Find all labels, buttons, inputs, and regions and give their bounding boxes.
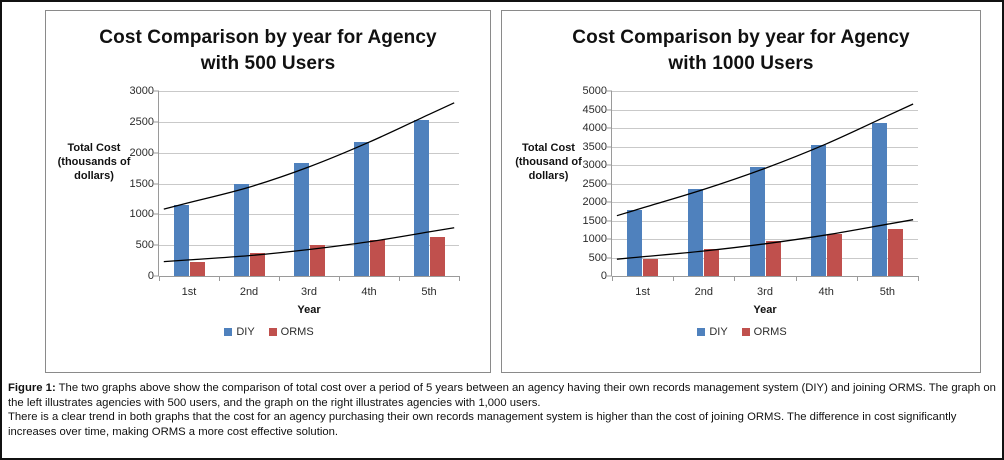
y-axis-title-left-line2: (thousands of — [46, 155, 142, 169]
bar-diy-4th — [811, 145, 826, 276]
y-tick-label: 1500 — [583, 215, 612, 227]
chart-title-right-line1: Cost Comparison by year for Agency — [502, 25, 980, 51]
y-tick-label: 1000 — [583, 233, 612, 245]
chart-title-left: Cost Comparison by year for Agency with … — [46, 11, 490, 77]
charts-row: Cost Comparison by year for Agency with … — [2, 2, 1004, 378]
y-tick-label: 2500 — [130, 116, 159, 128]
bar-orms-1st — [643, 259, 658, 276]
y-tick-label: 1500 — [130, 178, 159, 190]
chart-title-right-line2: with 1000 Users — [502, 51, 980, 77]
bar-diy-4th — [354, 142, 369, 276]
y-tick-label: 4500 — [583, 104, 612, 116]
legend-label: ORMS — [281, 326, 314, 338]
x-tick-mark — [339, 276, 340, 281]
x-tick-mark — [796, 276, 797, 281]
chart-title-right: Cost Comparison by year for Agency with … — [502, 11, 980, 77]
chart-legend-left: DIYORMS — [46, 326, 492, 338]
chart-title-left-line1: Cost Comparison by year for Agency — [46, 25, 490, 51]
y-axis-title-right: Total Cost (thousand of dollars) — [502, 141, 595, 183]
x-tick-mark — [918, 276, 919, 281]
legend-item-orms[interactable]: ORMS — [742, 326, 787, 338]
x-tick-label: 5th — [880, 286, 895, 298]
figure-caption: Figure 1: The two graphs above show the … — [8, 381, 996, 439]
x-tick-label: 2nd — [240, 286, 258, 298]
x-tick-mark — [734, 276, 735, 281]
bar-diy-5th — [872, 123, 887, 276]
chart-title-left-line2: with 500 Users — [46, 51, 490, 77]
bar-diy-2nd — [688, 189, 703, 276]
legend-item-orms[interactable]: ORMS — [269, 326, 314, 338]
bar-diy-3rd — [750, 167, 765, 276]
bar-diy-5th — [414, 120, 429, 276]
bar-orms-4th — [370, 240, 385, 276]
x-tick-mark — [459, 276, 460, 281]
y-tick-label: 5000 — [583, 85, 612, 97]
bar-orms-3rd — [766, 241, 781, 276]
x-tick-label: 4th — [819, 286, 834, 298]
y-axis-title-right-line1: Total Cost — [502, 141, 595, 155]
y-tick-label: 500 — [136, 239, 159, 251]
y-gridline — [612, 276, 918, 277]
legend-item-diy[interactable]: DIY — [224, 326, 254, 338]
chart-panel-left: Cost Comparison by year for Agency with … — [45, 10, 491, 373]
x-tick-mark — [279, 276, 280, 281]
legend-item-diy[interactable]: DIY — [697, 326, 727, 338]
chart-panel-right: Cost Comparison by year for Agency with … — [501, 10, 981, 373]
y-axis-title-left-line3: dollars) — [46, 169, 142, 183]
legend-label: DIY — [236, 326, 254, 338]
y-tick-label: 0 — [148, 270, 159, 282]
legend-swatch-icon — [224, 328, 232, 336]
y-tick-label: 3000 — [583, 159, 612, 171]
y-tick-label: 0 — [601, 270, 612, 282]
y-axis-title-right-line3: dollars) — [502, 169, 595, 183]
legend-label: DIY — [709, 326, 727, 338]
x-tick-label: 3rd — [301, 286, 317, 298]
x-tick-mark — [219, 276, 220, 281]
x-axis-title: Year — [612, 304, 918, 316]
x-tick-mark — [612, 276, 613, 281]
x-tick-label: 4th — [361, 286, 376, 298]
bar-orms-5th — [430, 237, 445, 276]
x-axis-title: Year — [159, 304, 459, 316]
x-tick-label: 3rd — [757, 286, 773, 298]
x-tick-label: 2nd — [695, 286, 713, 298]
y-axis-title-right-line2: (thousand of — [502, 155, 595, 169]
y-axis-title-left: Total Cost (thousands of dollars) — [46, 141, 142, 183]
y-tick-label: 3500 — [583, 141, 612, 153]
figure-caption-text-2: There is a clear trend in both graphs th… — [8, 411, 956, 438]
y-tick-label: 1000 — [130, 208, 159, 220]
legend-swatch-icon — [742, 328, 750, 336]
bar-orms-5th — [888, 229, 903, 276]
y-tick-label: 2000 — [130, 147, 159, 159]
legend-swatch-icon — [697, 328, 705, 336]
x-tick-label: 5th — [421, 286, 436, 298]
bars-layer — [612, 91, 918, 276]
bar-diy-1st — [627, 210, 642, 276]
bar-orms-2nd — [250, 253, 265, 276]
bar-orms-4th — [827, 234, 842, 276]
y-tick-label: 4000 — [583, 122, 612, 134]
y-tick-label: 500 — [589, 252, 612, 264]
x-tick-label: 1st — [182, 286, 197, 298]
y-tick-label: 2500 — [583, 178, 612, 190]
figure-page: Cost Comparison by year for Agency with … — [0, 0, 1004, 460]
bar-diy-3rd — [294, 163, 309, 276]
figure-caption-paragraph-2: There is a clear trend in both graphs th… — [8, 410, 996, 439]
x-tick-mark — [159, 276, 160, 281]
y-axis-title-left-line1: Total Cost — [46, 141, 142, 155]
legend-label: ORMS — [754, 326, 787, 338]
bar-orms-3rd — [310, 245, 325, 276]
legend-swatch-icon — [269, 328, 277, 336]
x-tick-mark — [399, 276, 400, 281]
bars-layer — [159, 91, 459, 276]
figure-caption-paragraph-1: Figure 1: The two graphs above show the … — [8, 381, 996, 410]
y-gridline — [159, 276, 459, 277]
bar-diy-1st — [174, 205, 189, 276]
chart-legend-right: DIYORMS — [502, 326, 982, 338]
plot-area-right: 0500100015002000250030003500400045005000… — [612, 91, 918, 276]
y-tick-label: 2000 — [583, 196, 612, 208]
y-tick-label: 3000 — [130, 85, 159, 97]
figure-label: Figure 1: — [8, 382, 56, 394]
bar-diy-2nd — [234, 184, 249, 276]
x-tick-mark — [857, 276, 858, 281]
figure-caption-text-1: The two graphs above show the comparison… — [8, 382, 996, 409]
bar-orms-2nd — [704, 249, 719, 276]
x-tick-label: 1st — [635, 286, 650, 298]
bar-orms-1st — [190, 262, 205, 276]
x-tick-mark — [673, 276, 674, 281]
plot-area-left: 0500100015002000250030001st2nd3rd4th5thY… — [159, 91, 459, 276]
